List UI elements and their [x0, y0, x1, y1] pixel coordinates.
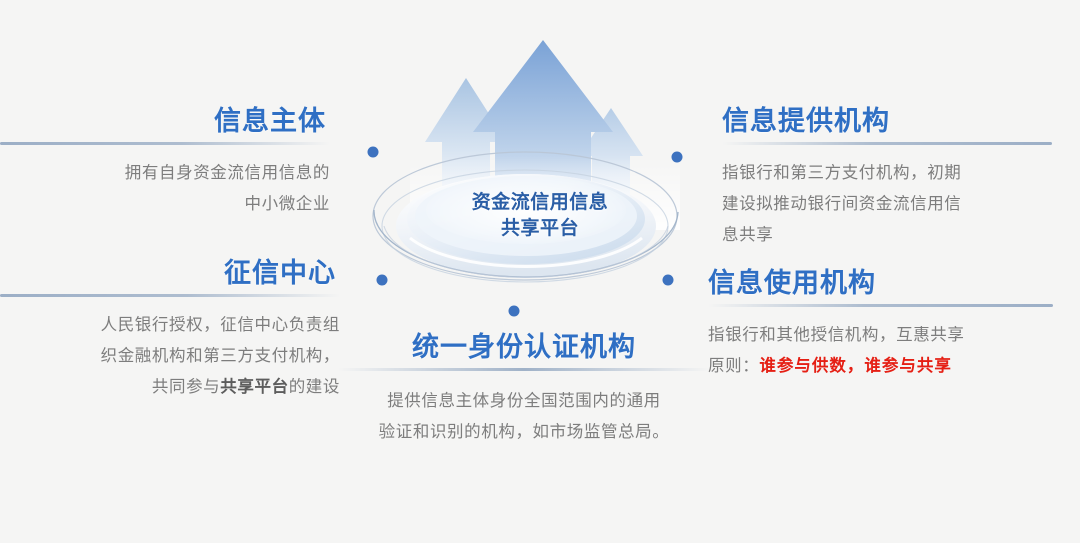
block-info-provider-body-line3: 息共享	[722, 219, 1052, 250]
block-info-subject-body-line2: 中小微企业	[0, 188, 330, 219]
block-info-provider-rule	[722, 142, 1052, 145]
info-user-line2-highlight: 谁参与供数，谁参与共享	[759, 356, 952, 375]
block-identity-auth-body-line1: 提供信息主体身份全国范围内的通用	[338, 385, 710, 416]
platform-label: 资金流信用信息 共享平台	[330, 190, 750, 242]
block-info-user-body: 指银行和其他授信机构，互惠共享 原则：谁参与供数，谁参与共享	[708, 319, 1053, 381]
block-info-provider-body-line2: 建设拟推动银行间资金流信用信	[722, 188, 1052, 219]
orbit-dot-lower-right	[663, 275, 674, 286]
block-info-subject-body: 拥有自身资金流信用信息的 中小微企业	[0, 157, 330, 219]
credit-center-line3-post: 的建设	[289, 377, 340, 396]
infographic-canvas: 资金流信用信息 共享平台 信息主体 拥有自身资金流信用信息的 中小微企业 征信中…	[0, 0, 1080, 543]
block-credit-center-rule	[0, 294, 340, 297]
block-info-subject-title: 信息主体	[0, 104, 330, 138]
block-info-provider-body: 指银行和第三方支付机构，初期 建设拟推动银行间资金流信用信 息共享	[722, 157, 1052, 250]
block-credit-center-body: 人民银行授权，征信中心负责组 织金融机构和第三方支付机构， 共同参与共享平台的建…	[0, 309, 340, 402]
block-credit-center-body-line2: 织金融机构和第三方支付机构，	[0, 340, 340, 371]
block-info-user-body-line2: 原则：谁参与供数，谁参与共享	[708, 350, 1053, 381]
credit-center-line3-pre: 共同参与	[152, 377, 220, 396]
block-info-subject: 信息主体 拥有自身资金流信用信息的 中小微企业	[0, 104, 330, 219]
central-platform-graphic	[330, 30, 750, 340]
block-credit-center: 征信中心 人民银行授权，征信中心负责组 织金融机构和第三方支付机构， 共同参与共…	[0, 256, 340, 402]
block-identity-auth-title: 统一身份认证机构	[338, 330, 710, 364]
block-identity-auth-rule	[338, 368, 710, 371]
block-identity-auth-body-line2: 验证和识别的机构，如市场监管总局。	[338, 416, 710, 447]
orbit-dot-upper-left	[368, 147, 379, 158]
block-info-user-title: 信息使用机构	[708, 266, 1053, 300]
block-info-provider: 信息提供机构 指银行和第三方支付机构，初期 建设拟推动银行间资金流信用信 息共享	[722, 104, 1052, 250]
info-user-line2-pre: 原则：	[708, 356, 759, 375]
orbit-dot-bottom	[509, 306, 520, 317]
block-info-user: 信息使用机构 指银行和其他授信机构，互惠共享 原则：谁参与供数，谁参与共享	[708, 266, 1053, 381]
block-info-subject-body-line1: 拥有自身资金流信用信息的	[0, 157, 330, 188]
block-info-provider-body-line1: 指银行和第三方支付机构，初期	[722, 157, 1052, 188]
orbit-dot-lower-left	[377, 275, 388, 286]
platform-label-line2: 共享平台	[330, 216, 750, 242]
block-identity-auth: 统一身份认证机构 提供信息主体身份全国范围内的通用 验证和识别的机构，如市场监管…	[338, 330, 710, 447]
block-credit-center-body-line1: 人民银行授权，征信中心负责组	[0, 309, 340, 340]
platform-label-line1: 资金流信用信息	[330, 190, 750, 216]
orbit-dot-upper-right	[672, 152, 683, 163]
block-info-subject-rule	[0, 142, 330, 145]
block-info-user-rule	[708, 304, 1053, 307]
block-info-provider-title: 信息提供机构	[722, 104, 1052, 138]
block-credit-center-body-line3: 共同参与共享平台的建设	[0, 371, 340, 402]
credit-center-line3-emphasis: 共享平台	[220, 377, 288, 396]
block-identity-auth-body: 提供信息主体身份全国范围内的通用 验证和识别的机构，如市场监管总局。	[338, 385, 710, 447]
block-credit-center-title: 征信中心	[0, 256, 340, 290]
block-info-user-body-line1: 指银行和其他授信机构，互惠共享	[708, 319, 1053, 350]
